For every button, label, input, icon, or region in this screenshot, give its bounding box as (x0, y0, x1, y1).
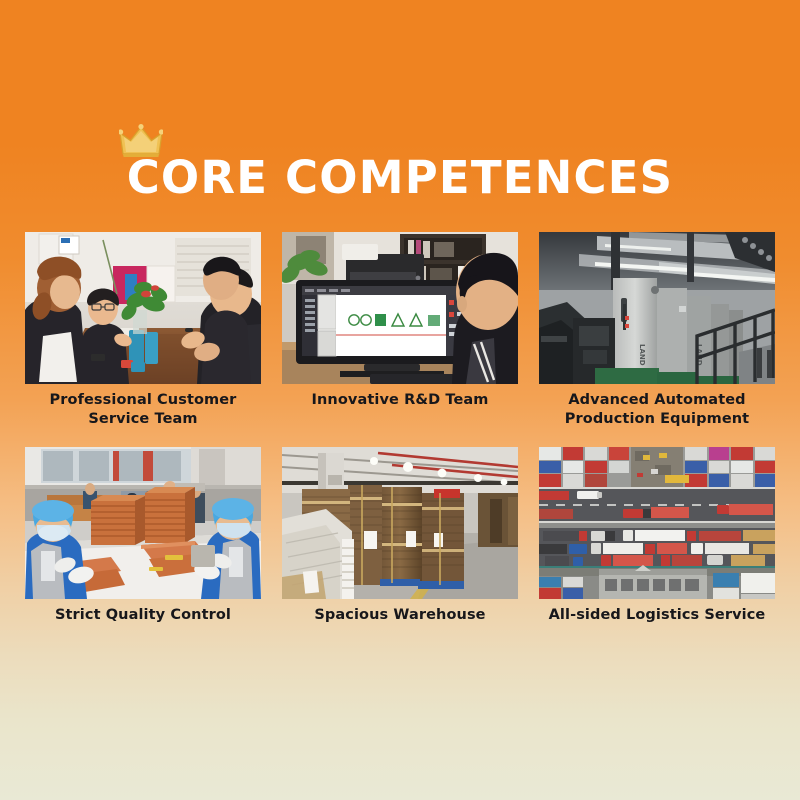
caption-innovative-rd-team: Innovative R&D Team (282, 391, 518, 410)
grid-row-2: Strict Quality Control (25, 447, 775, 625)
competence-grid: Professional Customer Service Team (25, 232, 775, 625)
meeting-room-photo (25, 232, 261, 384)
core-competences-banner: CORE COMPETENCES (0, 0, 800, 800)
card-professional-customer-service-team[interactable]: Professional Customer Service Team (25, 232, 261, 429)
caption-advanced-automated-production-equipment: Advanced Automated Production Equipment (539, 391, 775, 429)
container-port-aerial-photo (539, 447, 775, 599)
printing-press-photo: LAND 800 LAND (539, 232, 775, 384)
caption-strict-quality-control: Strict Quality Control (25, 606, 261, 625)
page-title: CORE COMPETENCES (127, 150, 674, 205)
designer-at-monitor-photo (282, 232, 518, 384)
caption-spacious-warehouse: Spacious Warehouse (282, 606, 518, 625)
caption-all-sided-logistics-service: All-sided Logistics Service (539, 606, 775, 625)
grid-row-1: Professional Customer Service Team (25, 232, 775, 429)
card-strict-quality-control[interactable]: Strict Quality Control (25, 447, 261, 625)
caption-professional-customer-service-team: Professional Customer Service Team (25, 391, 261, 429)
card-innovative-rd-team[interactable]: Innovative R&D Team (282, 232, 518, 429)
card-advanced-automated-production-equipment[interactable]: LAND 800 LAND (539, 232, 775, 429)
title-block: CORE COMPETENCES (0, 150, 800, 205)
warehouse-photo (282, 447, 518, 599)
card-all-sided-logistics-service[interactable]: All-sided Logistics Service (539, 447, 775, 625)
card-spacious-warehouse[interactable]: Spacious Warehouse (282, 447, 518, 625)
quality-inspection-photo (25, 447, 261, 599)
